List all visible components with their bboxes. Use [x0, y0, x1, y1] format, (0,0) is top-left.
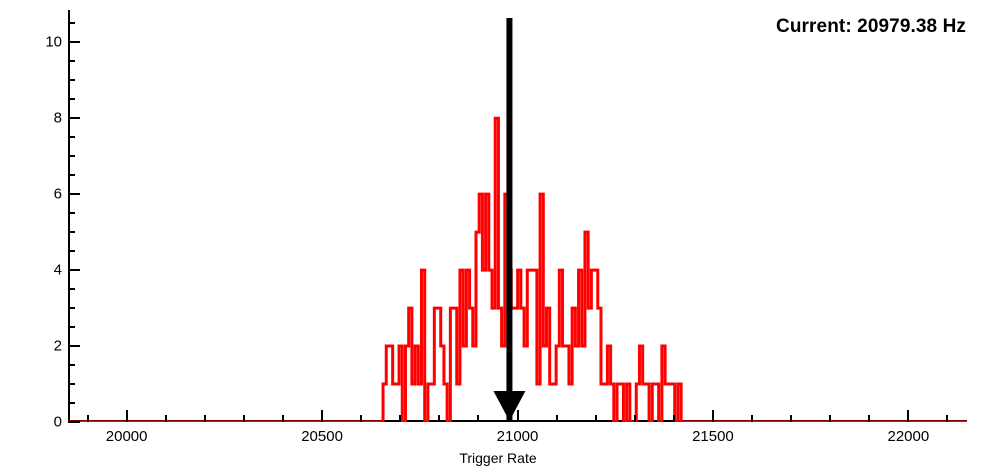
histogram-outline [68, 118, 967, 422]
y-tick-label: 4 [54, 262, 62, 279]
x-tick-minor [946, 415, 948, 422]
y-tick-minor [68, 307, 75, 309]
y-tick-minor [68, 98, 75, 100]
y-tick-minor [68, 60, 75, 62]
y-tick-label: 0 [54, 414, 62, 431]
x-tick-minor [556, 415, 558, 422]
y-tick-major [68, 41, 80, 43]
y-tick-minor [68, 155, 75, 157]
y-tick-minor [68, 250, 75, 252]
y-tick-minor [68, 231, 75, 233]
x-tick-minor [829, 415, 831, 422]
y-tick-label: 2 [54, 338, 62, 355]
y-tick-minor [68, 212, 75, 214]
y-tick-major [68, 193, 80, 195]
x-tick-minor [868, 415, 870, 422]
x-tick-minor [673, 415, 675, 422]
y-tick-minor [68, 22, 75, 24]
y-tick-major [68, 269, 80, 271]
x-tick-minor [87, 415, 89, 422]
y-tick-minor [68, 402, 75, 404]
histogram-series [68, 10, 967, 422]
x-tick-label: 22000 [888, 428, 930, 445]
x-tick-minor [243, 415, 245, 422]
x-tick-minor [399, 415, 401, 422]
x-tick-label: 20500 [301, 428, 343, 445]
x-tick-minor [165, 415, 167, 422]
x-tick-minor [360, 415, 362, 422]
y-tick-major [68, 421, 80, 423]
y-tick-major [68, 117, 80, 119]
x-tick-major [712, 410, 714, 422]
x-tick-minor [204, 415, 206, 422]
y-axis-labels: 0246810 [18, 0, 62, 472]
x-tick-major [126, 410, 128, 422]
y-tick-label: 8 [54, 110, 62, 127]
x-tick-minor [438, 415, 440, 422]
y-tick-minor [68, 136, 75, 138]
x-tick-minor [595, 415, 597, 422]
y-tick-label: 6 [54, 186, 62, 203]
x-tick-label: 21000 [497, 428, 539, 445]
x-tick-major [321, 410, 323, 422]
x-axis-title: Trigger Rate [0, 450, 996, 466]
y-tick-minor [68, 364, 75, 366]
y-tick-label: 10 [45, 34, 62, 51]
x-tick-minor [282, 415, 284, 422]
y-tick-minor [68, 288, 75, 290]
y-tick-major [68, 345, 80, 347]
y-tick-minor [68, 174, 75, 176]
x-tick-major [907, 410, 909, 422]
x-tick-label: 21500 [692, 428, 734, 445]
chart-root: Current: 20979.38 Hz 0246810 20000205002… [0, 0, 996, 472]
x-tick-minor [751, 415, 753, 422]
plot-area [68, 10, 967, 422]
x-tick-minor [477, 415, 479, 422]
x-tick-minor [634, 415, 636, 422]
x-tick-minor [790, 415, 792, 422]
y-tick-minor [68, 326, 75, 328]
y-tick-minor [68, 383, 75, 385]
x-tick-major [517, 410, 519, 422]
y-tick-minor [68, 79, 75, 81]
x-tick-label: 20000 [106, 428, 148, 445]
